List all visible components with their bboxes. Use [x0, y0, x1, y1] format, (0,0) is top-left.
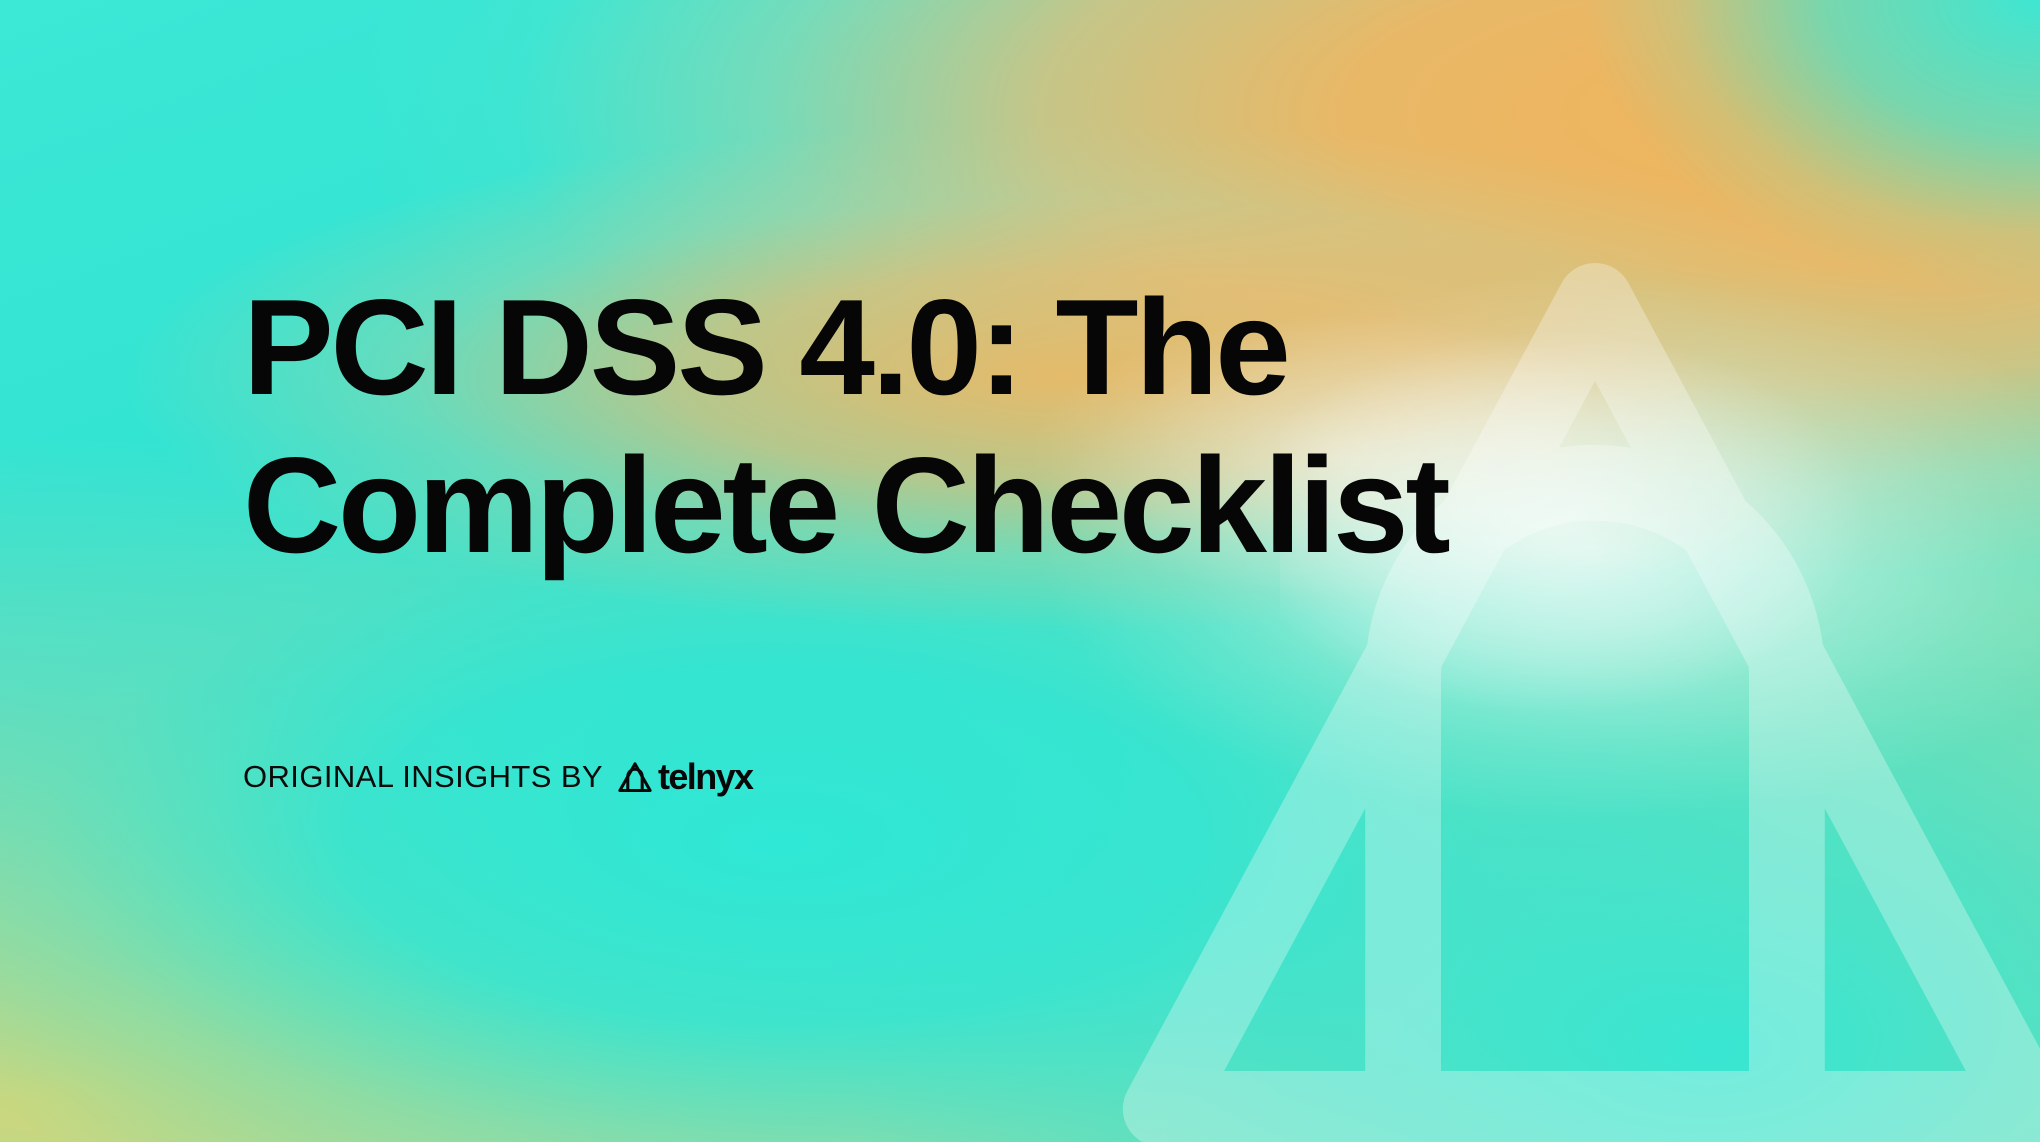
telnyx-brand-lockup: telnyx — [617, 760, 752, 794]
hero-content: PCI DSS 4.0: The Complete Checklist ORIG… — [243, 0, 1743, 1142]
telnyx-logo-icon — [617, 761, 653, 793]
byline-prefix: ORIGINAL INSIGHTS BY — [243, 760, 603, 794]
page-title: PCI DSS 4.0: The Complete Checklist — [243, 268, 1448, 584]
telnyx-wordmark: telnyx — [658, 760, 752, 794]
byline: ORIGINAL INSIGHTS BY telnyx — [243, 760, 752, 794]
poster-canvas: PCI DSS 4.0: The Complete Checklist ORIG… — [0, 0, 2040, 1142]
